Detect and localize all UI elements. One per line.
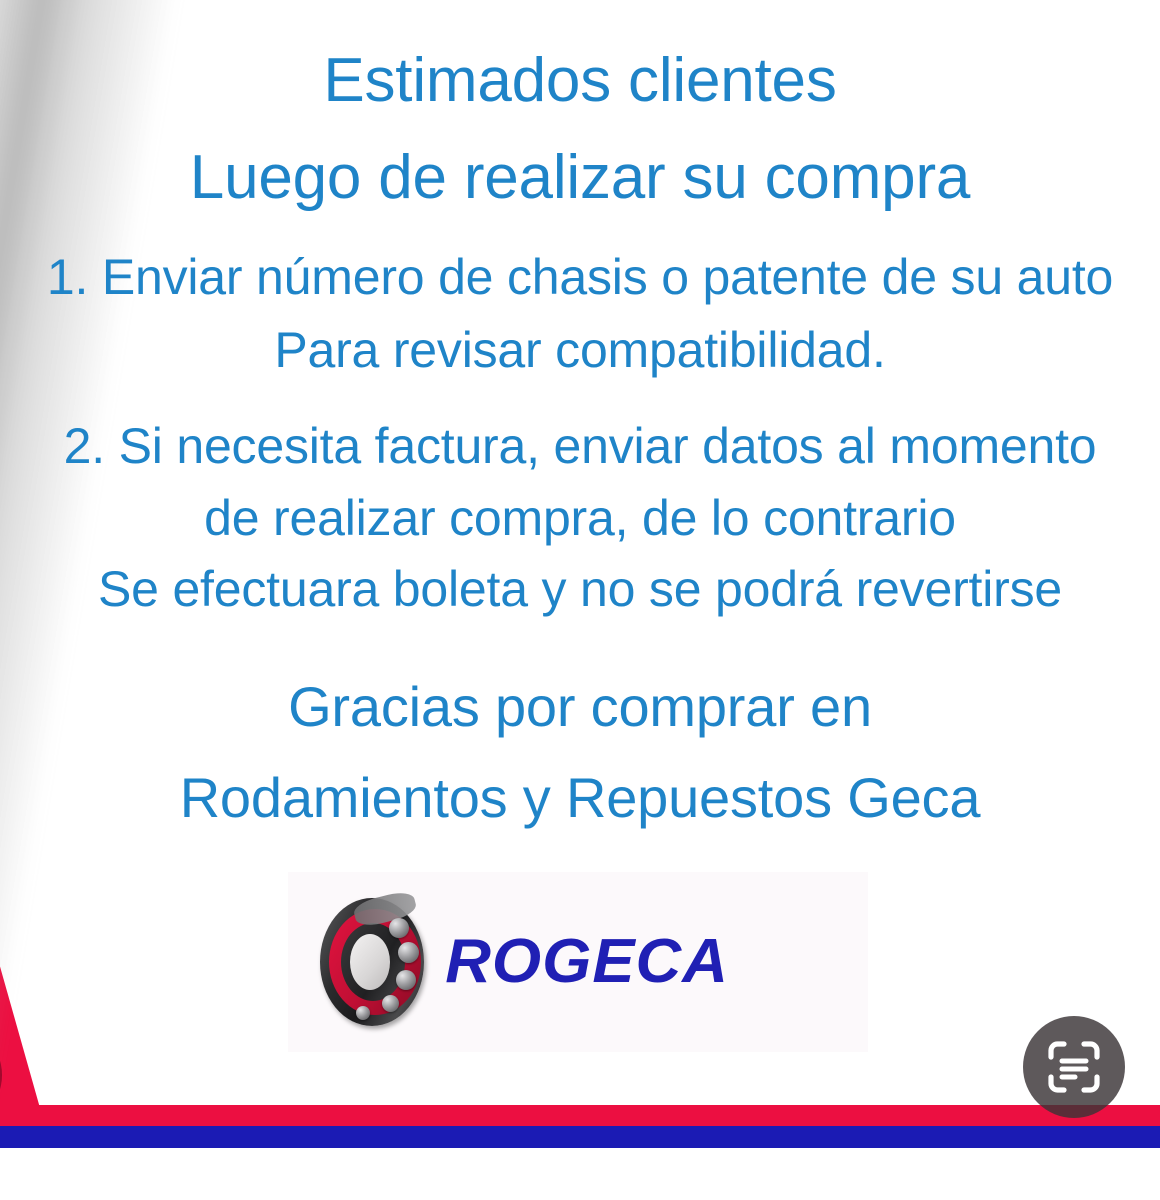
footer-blue-stripe bbox=[0, 1126, 1160, 1148]
footer-red-stripe bbox=[0, 1105, 1160, 1126]
bearing-bore bbox=[350, 934, 390, 990]
logo-wordmark: ROGECA bbox=[445, 931, 729, 993]
text-scan-icon bbox=[1045, 1038, 1103, 1096]
bearing-ball bbox=[396, 970, 416, 990]
promo-image-canvas: Estimados clientes Luego de realizar su … bbox=[0, 0, 1160, 1200]
company-logo: ROGECA bbox=[288, 872, 868, 1052]
instruction-1-line-2: Para revisar compatibilidad. bbox=[0, 325, 1160, 375]
thanks-line-2: Rodamientos y Repuestos Geca bbox=[0, 770, 1160, 826]
instruction-2-line-3: Se efectuara boleta y no se podrá revert… bbox=[0, 564, 1160, 614]
title-line-2: Luego de realizar su compra bbox=[0, 147, 1160, 209]
bearing-ball bbox=[356, 1006, 370, 1020]
title-line-1: Estimados clientes bbox=[0, 50, 1160, 112]
instruction-1-line-1: 1. Enviar número de chasis o patente de … bbox=[0, 252, 1160, 302]
bearing-ball bbox=[382, 995, 399, 1012]
bearing-ball bbox=[389, 918, 409, 938]
ball-bearing-icon bbox=[316, 898, 434, 1026]
bearing-ball bbox=[398, 942, 419, 963]
instruction-2-line-2: de realizar compra, de lo contrario bbox=[0, 493, 1160, 543]
instruction-2-line-1: 2. Si necesita factura, enviar datos al … bbox=[0, 421, 1160, 471]
thanks-line-1: Gracias por comprar en bbox=[0, 679, 1160, 735]
live-text-scan-button[interactable] bbox=[1023, 1016, 1125, 1118]
